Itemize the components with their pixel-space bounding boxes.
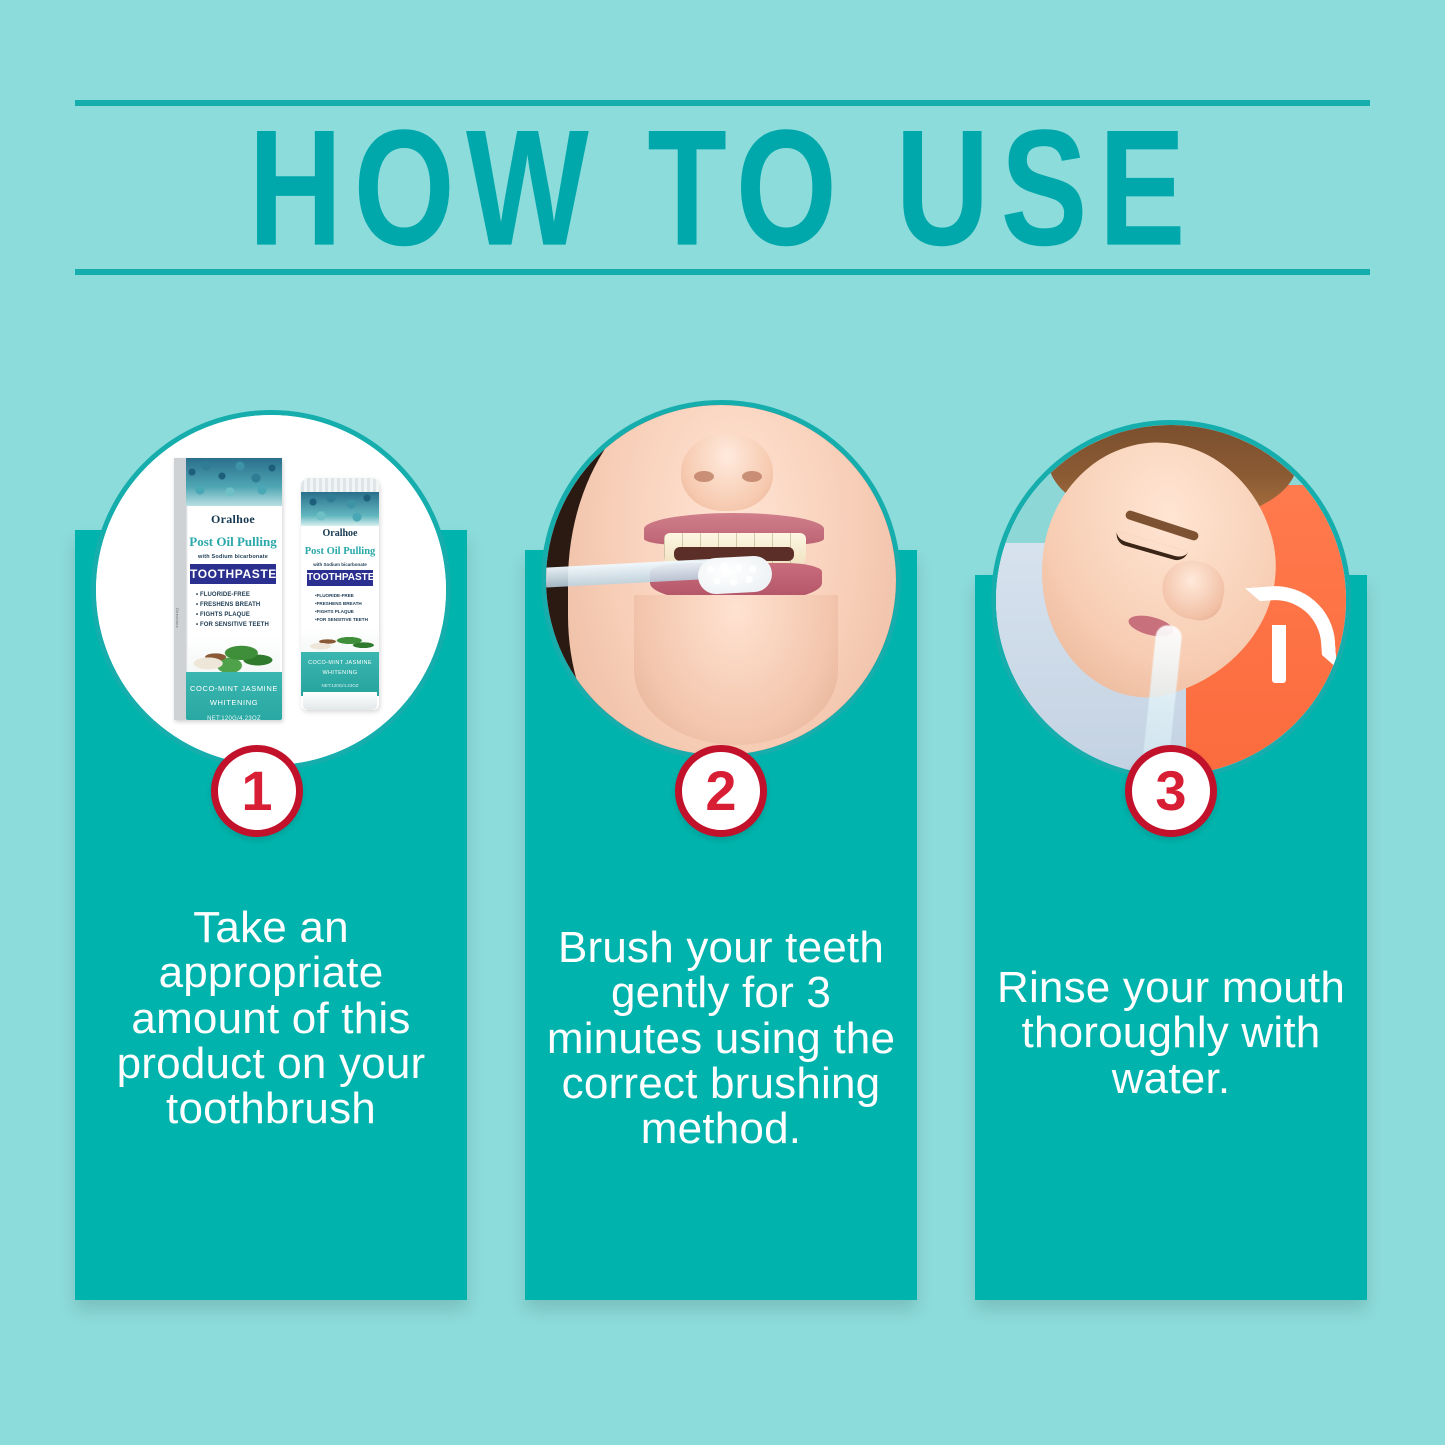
tube-bullet: FIGHTS PLAQUE — [315, 608, 375, 616]
box-bullet: FOR SENSITIVE TEETH — [196, 620, 276, 630]
box-bullet: FLUORIDE-FREE — [196, 590, 276, 600]
box-benefit: WHITENING — [186, 698, 282, 707]
box-net-weight: NET:120G/4.23OZ — [186, 716, 282, 722]
box-tagline: Post Oil Pulling — [186, 534, 280, 550]
woman-brushing-teeth-photo — [546, 405, 896, 755]
steps-container: Oralhoe Post Oil Pulling with Sodium bic… — [0, 0, 1445, 1445]
tube-tagline: Post Oil Pulling — [301, 546, 379, 557]
tube-ingredient-image — [301, 628, 379, 654]
tube-subtitle: with Sodium bicarbonate — [301, 562, 379, 567]
step-caption-1: Take an appropriate amount of this produ… — [90, 905, 452, 1132]
mouth-scene — [546, 405, 896, 755]
step-badge-3: 3 — [1125, 745, 1217, 837]
box-footer: COCO-MINT JASMINE WHITENING NET:120G/4.2… — [186, 672, 282, 720]
product-tube: Oralhoe Post Oil Pulling with Sodium bic… — [301, 478, 379, 710]
tube-bullet: FRESHENS BREATH — [315, 600, 375, 608]
box-bullet: FRESHENS BREATH — [196, 600, 276, 610]
tube-benefit: WHITENING — [301, 670, 379, 676]
product-box: Oralhoe Post Oil Pulling with Sodium bic… — [174, 458, 282, 720]
tube-flavor: COCO-MINT JASMINE — [301, 660, 379, 666]
box-bullet-list: FLUORIDE-FREE FRESHENS BREATH FIGHTS PLA… — [196, 590, 276, 630]
step-caption-2: Brush your teeth gently for 3 minutes us… — [535, 925, 907, 1152]
woman-rinsing-mouth-photo — [996, 425, 1346, 775]
box-ingredient-image — [188, 634, 280, 676]
nostril-right — [742, 471, 762, 482]
chin — [634, 595, 838, 745]
box-category-band: TOOTHPASTE — [190, 564, 276, 584]
step-badge-2: 2 — [675, 745, 767, 837]
tube-brand-name: Oralhoe — [301, 528, 379, 539]
tube-category-band: TOOTHPASTE — [307, 570, 373, 586]
box-flavor: COCO-MINT JASMINE — [186, 684, 282, 693]
rinse-scene — [996, 425, 1346, 775]
box-bullet: FIGHTS PLAQUE — [196, 610, 276, 620]
box-subtitle: with Sodium bicarbonate — [186, 554, 280, 560]
faucet-icon — [1272, 585, 1334, 681]
box-brand-name: Oralhoe — [186, 512, 280, 527]
tube-cap — [303, 692, 377, 710]
toothbrush-head-icon — [697, 555, 773, 595]
step-badge-1: 1 — [211, 745, 303, 837]
tube-bullet-list: FLUORIDE-FREE FRESHENS BREATH FIGHTS PLA… — [315, 592, 375, 624]
tube-net-weight: NET:120G/4.23OZ — [301, 683, 379, 688]
tube-bullet: FLUORIDE-FREE — [315, 592, 375, 600]
step-photo-3 — [991, 420, 1351, 780]
box-side-text: Directions — [175, 608, 180, 628]
product-packaging-photo: Oralhoe Post Oil Pulling with Sodium bic… — [96, 415, 446, 765]
step-photo-1: Oralhoe Post Oil Pulling with Sodium bic… — [91, 410, 451, 770]
step-caption-3: Rinse your mouth thoroughly with water. — [985, 965, 1357, 1101]
tube-bullet: FOR SENSITIVE TEETH — [315, 616, 375, 624]
tube-wave-pattern — [301, 492, 379, 526]
box-wave-pattern — [186, 458, 282, 506]
product-scene: Oralhoe Post Oil Pulling with Sodium bic… — [96, 415, 446, 765]
tube-footer: COCO-MINT JASMINE WHITENING NET:120G/4.2… — [301, 652, 379, 696]
nostril-left — [694, 471, 714, 482]
step-photo-2 — [541, 400, 901, 760]
